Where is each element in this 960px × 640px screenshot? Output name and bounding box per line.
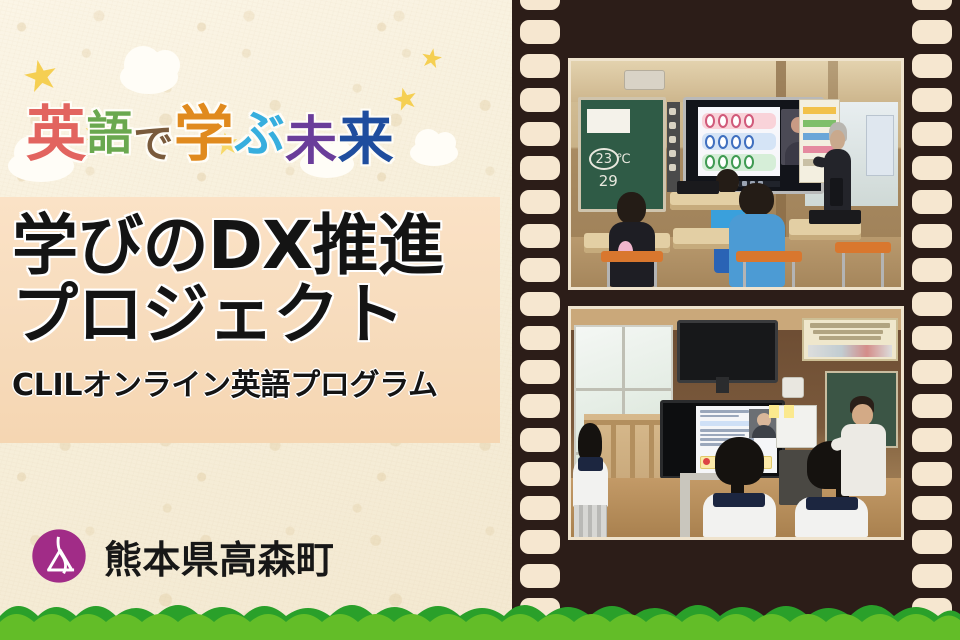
star-decoration-icon: ★ bbox=[418, 43, 445, 73]
poster-root: ★ ★ ★ ★ ★ 英語で学ぶ未来 学びのDX推進 プロジェクト CLILオンラ… bbox=[0, 0, 960, 640]
main-title-line-2: プロジェクト bbox=[12, 280, 490, 349]
left-content-column: ★ ★ ★ ★ ★ 英語で学ぶ未来 学びのDX推進 プロジェクト CLILオンラ… bbox=[0, 0, 512, 640]
kicker-char-3: で bbox=[133, 111, 174, 169]
subtitle: CLILオンライン英語プログラム bbox=[12, 360, 490, 404]
kicker-char-5: ぶ bbox=[234, 94, 285, 166]
kicker-headline: 英語で学ぶ未来 bbox=[26, 86, 394, 176]
filmstrip-panel: 23 ℃ 29 bbox=[512, 0, 960, 640]
main-title-line-1: 学びのDX推進 bbox=[12, 211, 490, 280]
junior-high-classroom-photo bbox=[571, 309, 901, 537]
filmstrip-frames: 23 ℃ 29 bbox=[568, 0, 904, 640]
kicker-char-6: 未 bbox=[285, 99, 338, 174]
kicker-char-4: 学 bbox=[174, 86, 235, 173]
kicker-char-7: 来 bbox=[338, 95, 395, 176]
photo-frame-junior-high bbox=[568, 306, 904, 540]
municipality-name: 熊本県高森町 bbox=[104, 529, 334, 584]
kicker-char-1: 英 bbox=[26, 86, 87, 173]
photo-frame-elementary: 23 ℃ 29 bbox=[568, 58, 904, 290]
elementary-classroom-photo: 23 ℃ 29 bbox=[571, 61, 901, 287]
cloud-decoration-icon bbox=[410, 140, 458, 166]
title-band: 学びのDX推進 プロジェクト CLILオンライン英語プログラム bbox=[0, 197, 500, 443]
filmstrip-sprockets-right bbox=[910, 0, 954, 640]
takamori-town-emblem-icon bbox=[30, 527, 88, 585]
kicker-char-2: 語 bbox=[87, 97, 134, 163]
filmstrip-sprockets-left bbox=[518, 0, 562, 640]
municipality-block: 熊本県高森町 bbox=[30, 527, 334, 585]
